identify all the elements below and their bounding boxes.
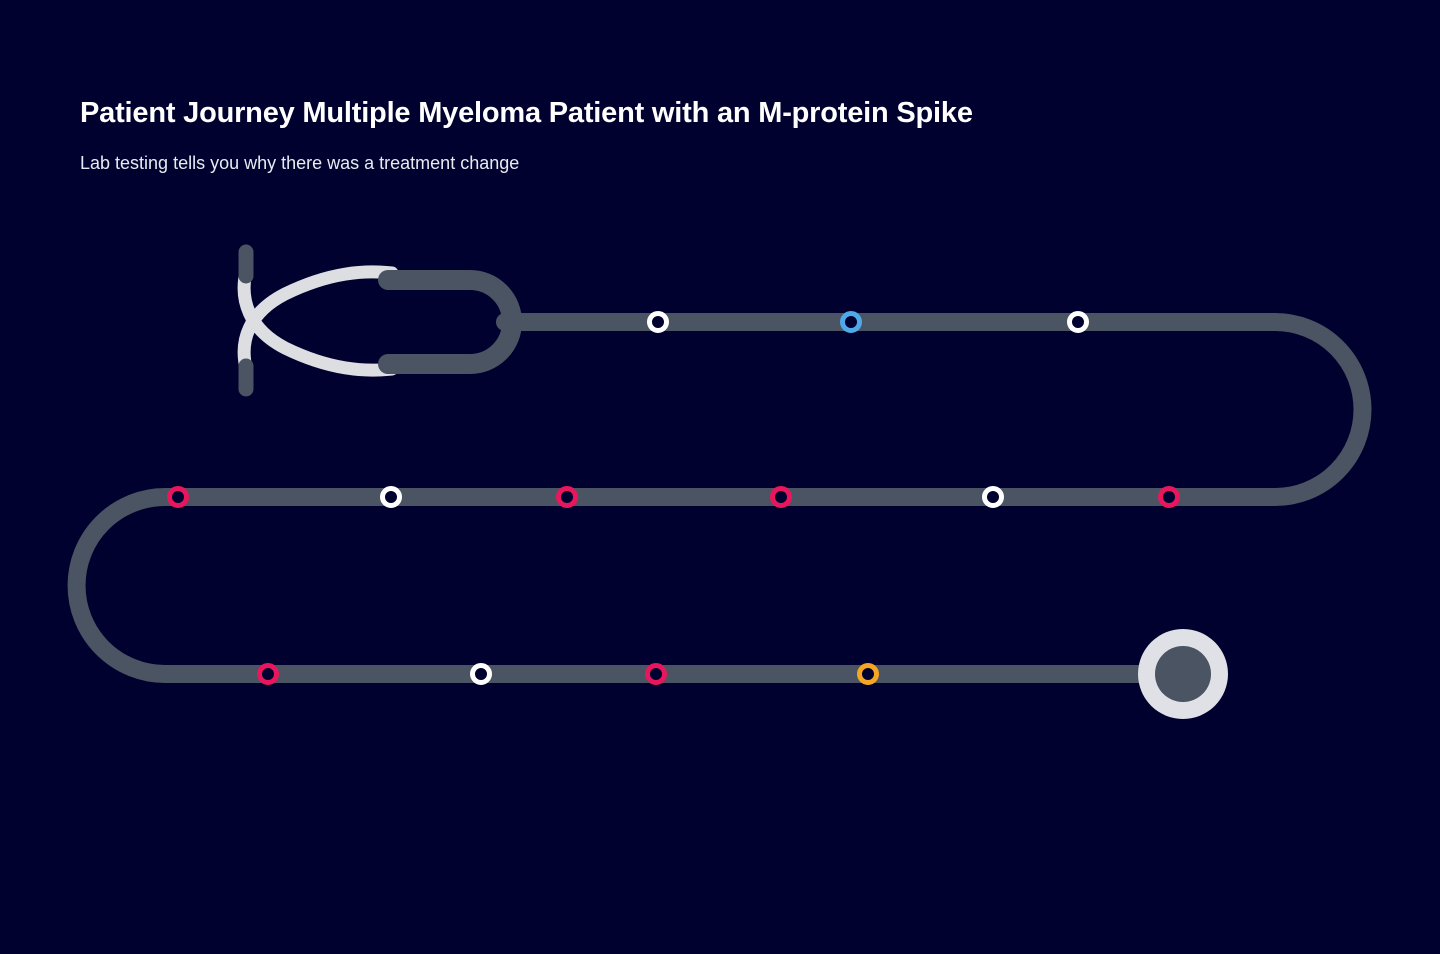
stethoscope-icon [244,252,530,389]
journey-node-blue[interactable] [843,314,860,331]
journey-node-amber[interactable] [860,666,877,683]
stethoscope-binaural-bend [388,280,512,364]
journey-node-white[interactable] [1070,314,1087,331]
journey-node-pink[interactable] [773,489,790,506]
journey-svg-canvas [0,0,1440,954]
journey-node-pink[interactable] [1161,489,1178,506]
track-segment-row2 [77,497,1183,674]
journey-node-white[interactable] [985,489,1002,506]
patient-journey-page: Patient Journey Multiple Myeloma Patient… [0,0,1440,954]
journey-node-pink[interactable] [648,666,665,683]
journey-node-white[interactable] [650,314,667,331]
journey-node-white[interactable] [473,666,490,683]
journey-endpoint-chestpiece[interactable] [1138,629,1228,719]
journey-node-pink[interactable] [260,666,277,683]
journey-node-pink[interactable] [170,489,187,506]
chestpiece-inner-disc [1155,646,1211,702]
journey-diagram [0,0,1440,954]
journey-node-white[interactable] [383,489,400,506]
track-segment-row1 [180,322,1363,497]
journey-node-pink[interactable] [559,489,576,506]
